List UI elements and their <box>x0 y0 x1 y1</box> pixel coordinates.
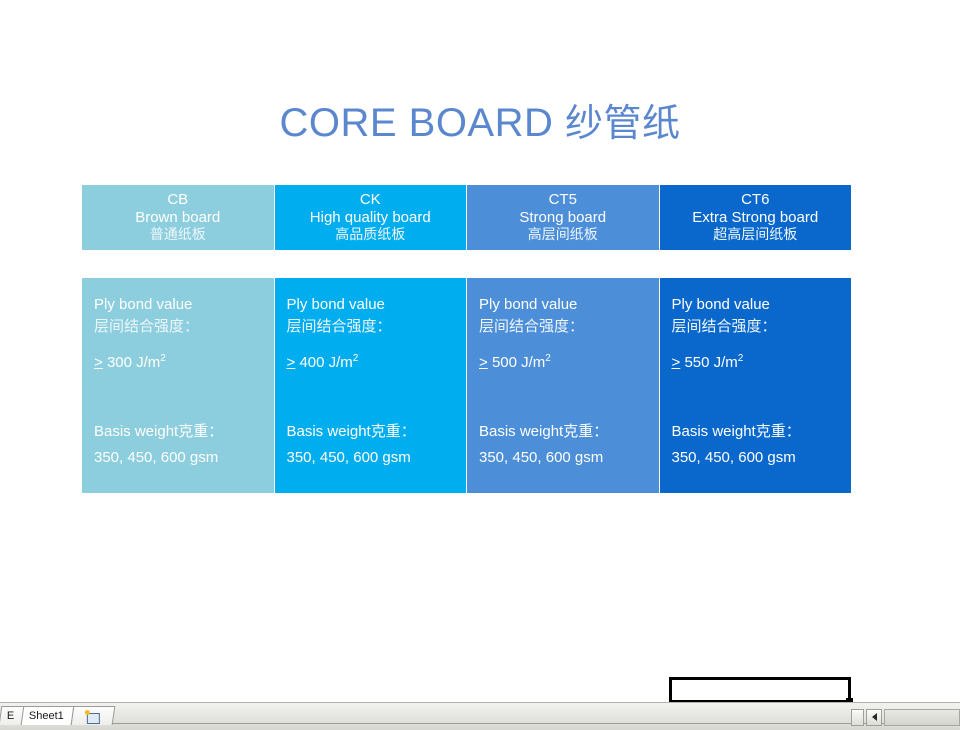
horizontal-scroll-area <box>851 706 960 728</box>
ply-bond-label-cn-ck: 层间结合强度： <box>287 316 467 338</box>
basis-weight-label-en-ct5: Basis weight <box>479 423 563 440</box>
ply-bond-number-ct6: 550 J/m <box>684 354 737 371</box>
header-name-cn-ck: 高品质纸板 <box>335 227 405 244</box>
table-body-cell-cb: Ply bond value 层间结合强度： > 300 J/m2 Basis … <box>82 278 274 493</box>
header-name-en-ct6: Extra Strong board <box>692 209 818 227</box>
tab-split-handle[interactable] <box>851 709 864 726</box>
basis-weight-label-cn-cb: 克重： <box>178 422 223 440</box>
ply-bond-value-cb: > 300 J/m2 <box>94 352 274 374</box>
ply-bond-value-ct6: > 550 J/m2 <box>672 352 852 374</box>
ply-bond-label-en-ck: Ply bond value <box>287 294 467 316</box>
ply-bond-number-ck: 400 J/m <box>299 354 352 371</box>
table-body-cell-ct5: Ply bond value 层间结合强度： > 500 J/m2 Basis … <box>467 278 659 493</box>
header-code-ct5: CT5 <box>549 191 577 209</box>
greater-equal-icon-ct6: > <box>672 354 681 371</box>
sheet-tab-sheet1[interactable]: Sheet1 <box>21 706 75 725</box>
table-header-cell-ct6: CT6 Extra Strong board 超高层间纸板 <box>660 185 852 250</box>
page-title-chinese: 纱管纸 <box>565 101 681 145</box>
table-body-row: Ply bond value 层间结合强度： > 300 J/m2 Basis … <box>82 278 851 493</box>
insert-worksheet-button[interactable] <box>71 706 116 725</box>
basis-weight-block-cb: Basis weight克重： 350, 450, 600 gsm <box>94 421 274 469</box>
page-title-english: CORE BOARD <box>279 101 553 145</box>
ply-bond-exponent-cb: 2 <box>160 353 166 364</box>
table-header-cell-ck: CK High quality board 高品质纸板 <box>275 185 467 250</box>
horizontal-scrollbar-track[interactable] <box>884 709 960 726</box>
sheet-tab-sheet1-label: Sheet1 <box>29 707 64 725</box>
basis-weight-value-ct5: 350, 450, 600 gsm <box>479 447 659 469</box>
table-body-cell-ck: Ply bond value 层间结合强度： > 400 J/m2 Basis … <box>275 278 467 493</box>
ply-bond-label-cn-ct6: 层间结合强度： <box>672 316 852 338</box>
basis-weight-block-ct6: Basis weight克重： 350, 450, 600 gsm <box>672 421 852 469</box>
basis-weight-label-en-ck: Basis weight <box>287 423 371 440</box>
ply-bond-value-ck: > 400 J/m2 <box>287 352 467 374</box>
ply-bond-value-ct5: > 500 J/m2 <box>479 352 659 374</box>
insert-worksheet-icon <box>85 709 99 722</box>
header-name-en-ct5: Strong board <box>519 209 606 227</box>
ply-bond-exponent-ct6: 2 <box>738 353 744 364</box>
basis-weight-block-ck: Basis weight克重： 350, 450, 600 gsm <box>287 421 467 469</box>
basis-weight-value-cb: 350, 450, 600 gsm <box>94 447 274 469</box>
header-code-cb: CB <box>167 191 188 209</box>
table-header-cell-ct5: CT5 Strong board 高层间纸板 <box>467 185 659 250</box>
greater-equal-icon-ck: > <box>287 354 296 371</box>
ply-bond-exponent-ct5: 2 <box>545 353 551 364</box>
header-code-ct6: CT6 <box>741 191 769 209</box>
sheet-tab-e-label: E <box>7 707 14 725</box>
basis-weight-label-ck: Basis weight克重： <box>287 421 467 443</box>
ply-bond-label-cn-ct5: 层间结合强度： <box>479 316 659 338</box>
table-header-row: CB Brown board 普通纸板 CK High quality boar… <box>82 185 851 250</box>
page-title: CORE BOARD 纱管纸 <box>0 92 960 147</box>
ply-bond-number-cb: 300 J/m <box>107 354 160 371</box>
basis-weight-value-ck: 350, 450, 600 gsm <box>287 447 467 469</box>
basis-weight-label-cn-ct6: 克重： <box>756 422 801 440</box>
grade-comparison-table: CB Brown board 普通纸板 CK High quality boar… <box>82 185 851 493</box>
basis-weight-label-ct6: Basis weight克重： <box>672 421 852 443</box>
basis-weight-value-ct6: 350, 450, 600 gsm <box>672 447 852 469</box>
header-name-en-ck: High quality board <box>310 209 431 227</box>
table-body-cell-ct6: Ply bond value 层间结合强度： > 550 J/m2 Basis … <box>660 278 852 493</box>
scroll-left-button[interactable] <box>866 709 882 726</box>
greater-equal-icon-cb: > <box>94 354 103 371</box>
ply-bond-label-cn-cb: 层间结合强度： <box>94 316 274 338</box>
header-name-en-cb: Brown board <box>135 209 220 227</box>
slide-canvas: CORE BOARD 纱管纸 CB Brown board 普通纸板 CK Hi… <box>0 0 960 702</box>
ply-bond-label-en-ct5: Ply bond value <box>479 294 659 316</box>
basis-weight-block-ct5: Basis weight克重： 350, 450, 600 gsm <box>479 421 659 469</box>
sheet-tab-strip: E Sheet1 <box>0 705 113 725</box>
basis-weight-label-cn-ck: 克重： <box>371 422 416 440</box>
status-bar: E Sheet1 <box>0 702 960 730</box>
sheet-tabs-divider <box>0 723 960 724</box>
ply-bond-exponent-ck: 2 <box>353 353 359 364</box>
table-header-cell-cb: CB Brown board 普通纸板 <box>82 185 274 250</box>
chevron-left-icon <box>872 713 877 721</box>
header-name-cn-cb: 普通纸板 <box>150 227 206 244</box>
ply-bond-label-en-ct6: Ply bond value <box>672 294 852 316</box>
basis-weight-label-ct5: Basis weight克重： <box>479 421 659 443</box>
basis-weight-label-en-cb: Basis weight <box>94 423 178 440</box>
header-code-ck: CK <box>360 191 381 209</box>
ply-bond-label-en-cb: Ply bond value <box>94 294 274 316</box>
header-name-cn-ct6: 超高层间纸板 <box>713 227 797 244</box>
greater-equal-icon-ct5: > <box>479 354 488 371</box>
basis-weight-label-cn-ct5: 克重： <box>563 422 608 440</box>
header-name-cn-ct5: 高层间纸板 <box>528 227 598 244</box>
ply-bond-number-ct5: 500 J/m <box>492 354 545 371</box>
selected-cell-outline[interactable] <box>669 677 851 703</box>
basis-weight-label-en-ct6: Basis weight <box>672 423 756 440</box>
basis-weight-label-cb: Basis weight克重： <box>94 421 274 443</box>
